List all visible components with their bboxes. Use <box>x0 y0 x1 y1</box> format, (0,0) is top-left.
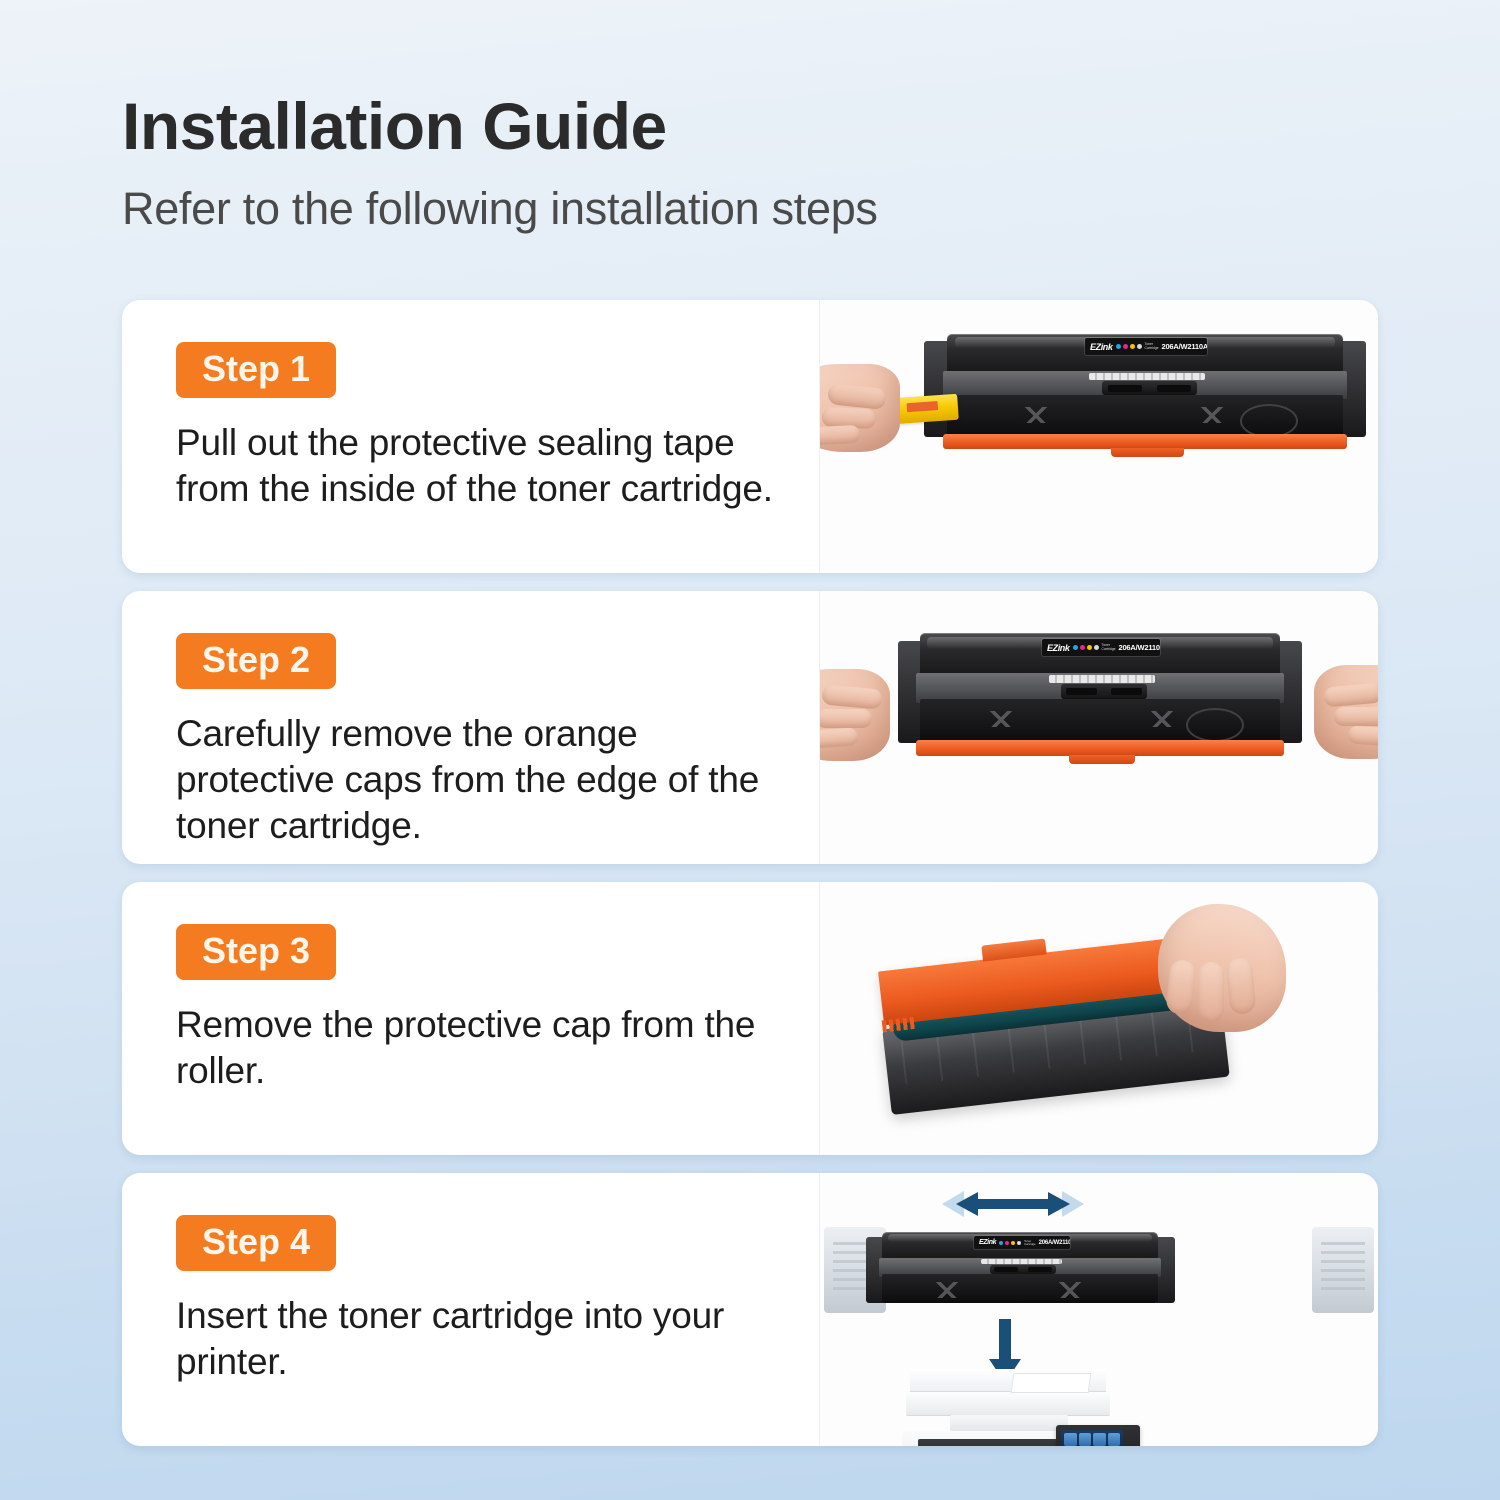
cmyk-dots-icon <box>1116 344 1142 349</box>
chevron-marker-icon <box>1059 1282 1081 1298</box>
step-3-badge: Step 3 <box>176 924 336 980</box>
label-descriptor: Toner Cartridge <box>1024 1240 1036 1246</box>
step-3-description: Remove the protective cap from the rolle… <box>176 1002 796 1095</box>
cartridge-oval-marking <box>1240 404 1298 438</box>
cartridge-handle <box>1102 381 1197 395</box>
finger <box>1198 962 1224 1022</box>
yellow-sealing-tape <box>891 394 959 425</box>
printer-control-panel[interactable] <box>1056 1425 1140 1446</box>
cartridge-toothed-strip <box>1089 373 1205 381</box>
drum-unit-graphic <box>876 928 1280 1124</box>
cartridge-base-tab <box>1111 448 1184 457</box>
cartridge-brand-label: EZink Toner Cartridge 206A/W2110A <box>974 1236 1070 1249</box>
finger <box>1165 959 1197 1015</box>
double-arrow-horizontal-icon <box>938 1187 1088 1221</box>
toner-cartridge-graphic: EZink Toner Cartridge 206A/W2110A <box>870 1227 1170 1313</box>
step-card-3: Step 3 Remove the protective cap from th… <box>122 882 1378 1155</box>
panel-tile-icon <box>1093 1433 1106 1446</box>
page-title: Installation Guide <box>122 92 878 161</box>
step-card-4: Step 4 Insert the toner cartridge into y… <box>122 1173 1378 1446</box>
cmyk-dots-icon <box>1073 645 1099 650</box>
cartridge-orange-base <box>916 740 1284 756</box>
toner-cartridge-graphic: EZink Toner Cartridge 206A/W2110A <box>904 625 1296 759</box>
label-descriptor: Toner Cartridge <box>1145 343 1159 350</box>
label-descriptor: Toner Cartridge <box>1102 644 1116 651</box>
step-1-text-block: Step 1 Pull out the protective sealing t… <box>122 300 819 573</box>
finger <box>819 425 860 445</box>
step-2-description: Carefully remove the orange protective c… <box>176 711 796 850</box>
printer-rail-right <box>1312 1227 1374 1313</box>
page-subtitle: Refer to the following installation step… <box>122 183 878 235</box>
step-1-illustration: EZink Toner Cartridge 206A/W2110A <box>819 300 1378 573</box>
printer-second-tray <box>950 1415 1068 1431</box>
chevron-marker-icon <box>936 1282 958 1298</box>
finger <box>819 727 859 748</box>
cartridge-base-tab <box>1069 755 1136 764</box>
cartridge-handle <box>1061 684 1147 699</box>
panel-tile-icon <box>1079 1433 1092 1446</box>
hand-gripping-left-cap <box>819 669 890 761</box>
printer-paper <box>1011 1373 1092 1393</box>
brand-text: EZink <box>1047 643 1070 653</box>
step-2-text-block: Step 2 Carefully remove the orange prote… <box>122 591 819 864</box>
finger <box>1323 683 1378 708</box>
brand-text: EZink <box>979 1239 996 1246</box>
step-2-badge: Step 2 <box>176 633 336 689</box>
cartridge-brand-label: EZink Toner Cartridge 206A/W2110A <box>1042 639 1160 656</box>
hand-gripping-right-cap <box>1314 665 1378 759</box>
finger <box>827 383 887 410</box>
finger <box>1347 725 1378 746</box>
finger <box>1334 707 1378 726</box>
label-model-number: 206A/W2110A <box>1039 1240 1070 1246</box>
finger <box>821 684 883 709</box>
panel-tile-icon <box>1108 1433 1121 1446</box>
step-4-description: Insert the toner cartridge into your pri… <box>176 1293 796 1386</box>
cartridge-toothed-strip <box>981 1259 1062 1264</box>
step-2-illustration: EZink Toner Cartridge 206A/W2110A <box>819 591 1378 864</box>
control-panel-screen[interactable] <box>1061 1430 1123 1446</box>
brand-text: EZink <box>1090 342 1113 352</box>
finger <box>1226 957 1257 1015</box>
steps-list: Step 1 Pull out the protective sealing t… <box>122 300 1378 1464</box>
toner-cartridge-graphic: EZink Toner Cartridge 206A/W2110A <box>930 326 1360 452</box>
hand-pulling-tape <box>819 364 900 452</box>
step-4-text-block: Step 4 Insert the toner cartridge into y… <box>122 1173 819 1446</box>
chevron-marker-icon <box>1025 407 1047 423</box>
step-4-illustration: EZink Toner Cartridge 206A/W2110A <box>819 1173 1378 1446</box>
label-model-number: 206A/W2110A <box>1118 643 1160 652</box>
cartridge-oval-marking <box>1186 708 1244 742</box>
step-card-2: Step 2 Carefully remove the orange prote… <box>122 591 1378 864</box>
cartridge-handle <box>990 1265 1056 1274</box>
chevron-marker-icon <box>1151 711 1173 727</box>
chevron-marker-icon <box>1201 407 1223 423</box>
panel-tile-icon <box>1064 1433 1077 1446</box>
hand-lifting-cap <box>1158 904 1286 1032</box>
cartridge-orange-base <box>943 434 1347 449</box>
printer-output-tray <box>906 1393 1110 1415</box>
cartridge-toothed-strip <box>1049 675 1155 683</box>
cartridge-lower-face <box>882 1274 1158 1302</box>
printer-graphic <box>894 1369 1134 1446</box>
label-model-number: 206A/W2110A <box>1161 342 1207 351</box>
step-card-1: Step 1 Pull out the protective sealing t… <box>122 300 1378 573</box>
cmyk-dots-icon <box>999 1241 1021 1245</box>
cartridge-brand-label: EZink Toner Cartridge 206A/W2110A <box>1085 338 1207 355</box>
step-1-badge: Step 1 <box>176 342 336 398</box>
step-4-badge: Step 4 <box>176 1215 336 1271</box>
guide-header: Installation Guide Refer to the followin… <box>122 92 878 235</box>
chevron-marker-icon <box>990 711 1012 727</box>
step-3-illustration <box>819 882 1378 1155</box>
step-3-text-block: Step 3 Remove the protective cap from th… <box>122 882 819 1155</box>
finger <box>819 709 872 728</box>
step-1-description: Pull out the protective sealing tape fro… <box>176 420 796 513</box>
